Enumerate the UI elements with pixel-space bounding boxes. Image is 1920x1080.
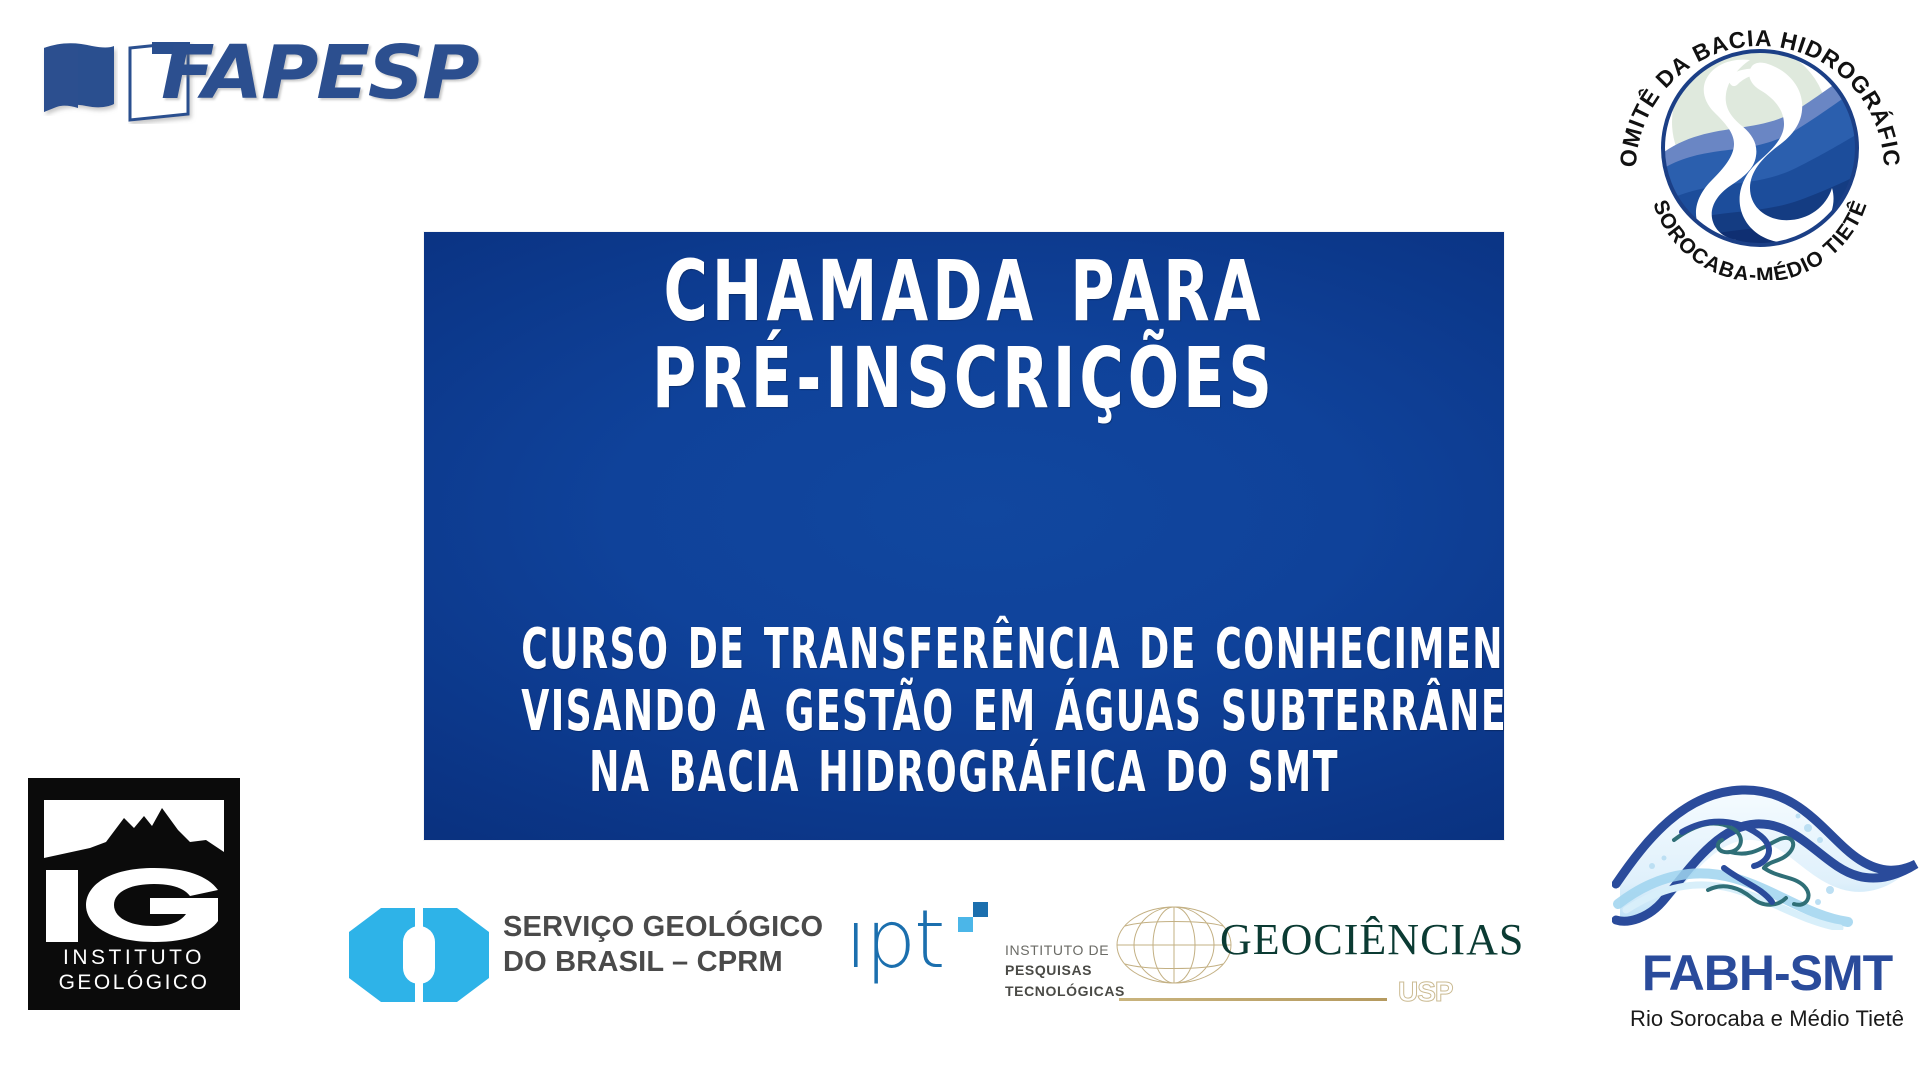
fabh-smt-tagline: Rio Sorocaba e Médio Tietê [1612,1006,1920,1032]
usp-wordmark: USP [1398,976,1453,1008]
ig-label: INSTITUTO GEOLÓGICO [28,946,240,996]
ipt-sublabel-line-1: INSTITUTO DE [1005,940,1125,960]
announcement-banner: CHAMADA PARA PRÉ-INSCRIÇÕES CURSO DE TRA… [424,232,1504,840]
banner-subtitle: CURSO DE TRANSFERÊNCIA DE CONHECIMENTO V… [521,619,1407,804]
banner-subtitle-line-2: VISANDO A GESTÃO EM ÁGUAS SUBTERRÂNEAS [521,681,1407,743]
banner-subtitle-line-1: CURSO DE TRANSFERÊNCIA DE CONHECIMENTO [521,619,1407,681]
fapesp-logo: FAPESP [36,22,456,132]
cprm-label: SERVIÇO GEOLÓGICO DO BRASIL – CPRM [503,910,823,981]
ipt-accent-square-dark [973,902,988,917]
ipt-sublabel-line-3: TECNOLÓGICAS [1005,981,1125,1001]
banner-title: CHAMADA PARA PRÉ-INSCRIÇÕES [628,248,1300,423]
ipt-sublabel-line-2: PESQUISAS [1005,960,1125,980]
geociencias-usp-logo: GEOCIÊNCIAS USP [1115,898,1460,1010]
ipt-wordmark: ıpt [845,900,943,980]
globe-grid-icon [1115,904,1233,986]
fabh-smt-wordmark: FABH-SMT [1612,948,1920,998]
cprm-label-line-2: DO BRASIL – CPRM [503,945,823,980]
geociencias-wordmark: GEOCIÊNCIAS [1220,914,1524,965]
ipt-accent-square-light [958,917,973,932]
cprm-label-line-1: SERVIÇO GEOLÓGICO [503,910,823,945]
cprm-hexagon-icon [345,906,493,1004]
ig-label-line-2: GEOLÓGICO [28,971,240,996]
poster-canvas: FAPESP [0,0,1920,1080]
ipt-logo: ıpt INSTITUTO DE PESQUISAS TECNOLÓGICAS [845,898,1115,1008]
ipt-sublabel: INSTITUTO DE PESQUISAS TECNOLÓGICAS [1005,940,1125,1001]
fabh-smt-logo: FABH-SMT Rio Sorocaba e Médio Tietê [1612,770,1920,1070]
fapesp-wordmark: FAPESP [161,36,478,110]
geociencias-rule [1119,998,1387,1001]
instituto-geologico-logo: INSTITUTO GEOLÓGICO [28,778,240,1010]
cbh-smt-seal: COMITÊ DA BACIA HIDROGRÁFICA SOROCABA-MÉ… [1600,2,1920,280]
banner-subtitle-line-3: NA BACIA HIDROGRÁFICA DO SMT [521,742,1407,804]
servico-geologico-do-brasil-cprm-logo: SERVIÇO GEOLÓGICO DO BRASIL – CPRM [345,900,665,1010]
water-wave-icon [1612,770,1920,930]
ig-label-line-1: INSTITUTO [28,946,240,971]
open-book-icon [40,42,118,116]
